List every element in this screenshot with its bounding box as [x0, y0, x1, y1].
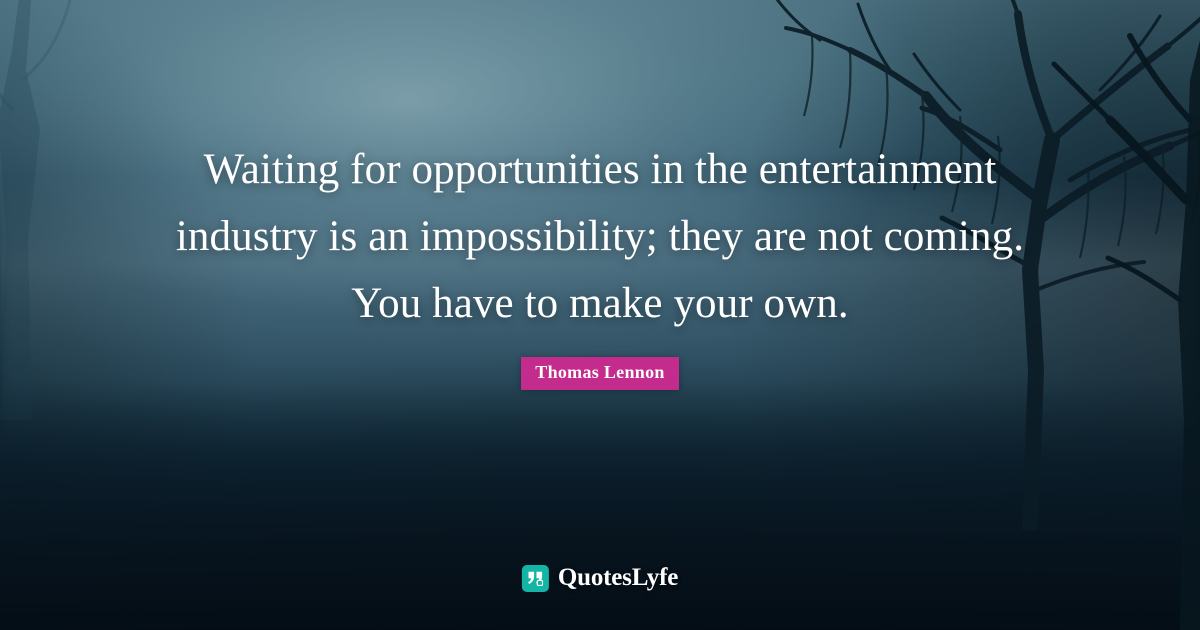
- quote-mark-icon: [522, 565, 549, 592]
- quote-card: Waiting for opportunities in the enterta…: [0, 0, 1200, 630]
- quote-text: Waiting for opportunities in the enterta…: [160, 136, 1040, 337]
- author-container: Thomas Lennon: [521, 357, 678, 390]
- quote-content: Waiting for opportunities in the enterta…: [0, 0, 1200, 630]
- quoteslyfe-logo[interactable]: QuotesLyfe: [522, 564, 678, 592]
- logo-wordmark: QuotesLyfe: [558, 564, 678, 592]
- author-badge: Thomas Lennon: [521, 357, 678, 390]
